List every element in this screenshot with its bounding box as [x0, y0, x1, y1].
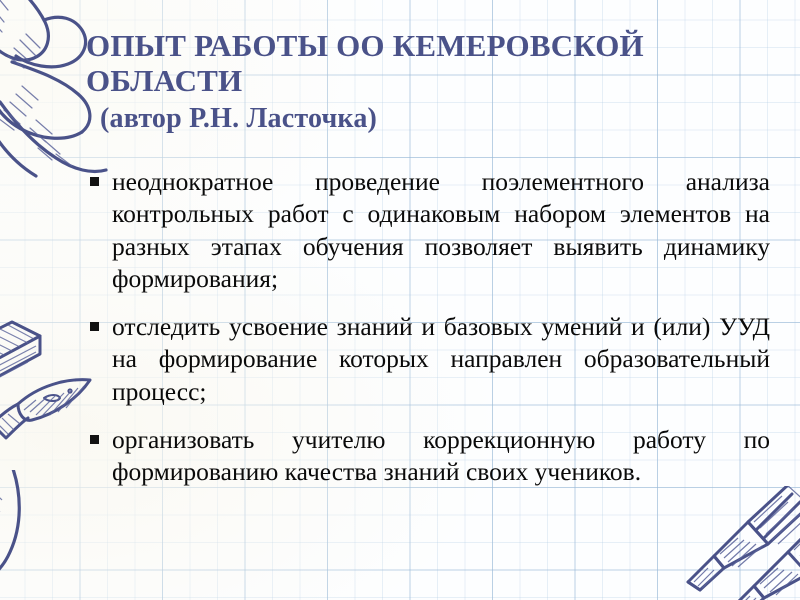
list-item-text: организовать учителю коррекционную работ…: [112, 424, 770, 489]
slide-title-main: ОПЫТ РАБОТЫ ОО КЕМЕРОВСКОЙ ОБЛАСТИ: [86, 28, 776, 99]
square-bullet-icon: [90, 322, 99, 331]
slide-title-author: (автор Р.Н. Ласточка): [86, 103, 776, 135]
list-item: неоднократное проведение поэлементного а…: [88, 166, 770, 295]
list-item: организовать учителю коррекционную работ…: [88, 424, 770, 489]
list-item: отследить усвоение знаний и базовых умен…: [88, 311, 770, 408]
pencils-sketch-icon: [596, 486, 800, 600]
slide-title: ОПЫТ РАБОТЫ ОО КЕМЕРОВСКОЙ ОБЛАСТИ (авто…: [86, 28, 776, 135]
presentation-slide: ОПЫТ РАБОТЫ ОО КЕМЕРОВСКОЙ ОБЛАСТИ (авто…: [0, 0, 800, 600]
square-bullet-icon: [90, 177, 99, 186]
list-item-text: неоднократное проведение поэлементного а…: [112, 166, 770, 295]
brush-tip-sketch-icon: [0, 470, 60, 600]
list-item-text: отследить усвоение знаний и базовых умен…: [112, 311, 770, 408]
square-bullet-icon: [90, 435, 99, 444]
slide-bullet-list: неоднократное проведение поэлементного а…: [88, 166, 770, 488]
